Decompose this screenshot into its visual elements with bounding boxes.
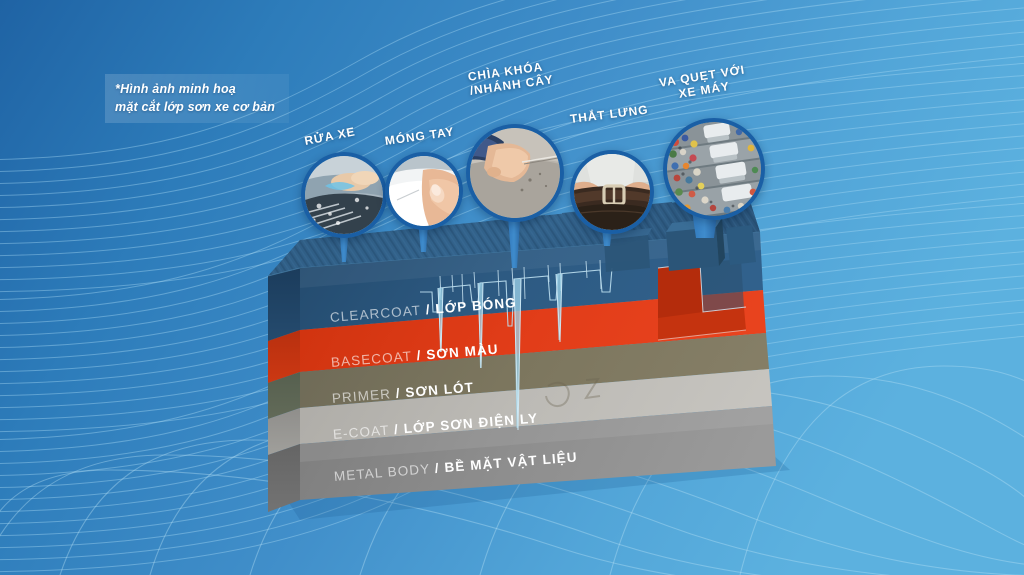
belt-buckle-photo xyxy=(574,154,650,230)
key-scratch-photo xyxy=(470,128,560,218)
traffic-scooter-photo xyxy=(667,122,761,216)
paint-layer-infographic: *Hình ảnh minh hoạ mặt cắt lớp sơn xe cơ… xyxy=(0,0,1024,575)
callout-bubble-chia-khoa[interactable] xyxy=(466,124,564,222)
layer-label-primer-sep: / xyxy=(395,386,401,401)
callout-bubble-mong-tay[interactable] xyxy=(385,152,463,230)
block-left-side xyxy=(268,268,300,512)
layer-label-ecoat-sep: / xyxy=(393,422,399,437)
layer-label-basecoat-sep: / xyxy=(416,348,422,363)
callout-bubble-rua-xe[interactable] xyxy=(301,152,387,238)
fingernail-photo xyxy=(389,156,459,226)
callout-bubble-that-lung[interactable] xyxy=(570,150,654,234)
callout-bubble-va-quet[interactable] xyxy=(663,118,765,220)
layer-label-clearcoat-sep: / xyxy=(425,302,431,317)
layer-label-metal-body-sep: / xyxy=(434,461,440,476)
car-washing-photo xyxy=(305,156,383,234)
